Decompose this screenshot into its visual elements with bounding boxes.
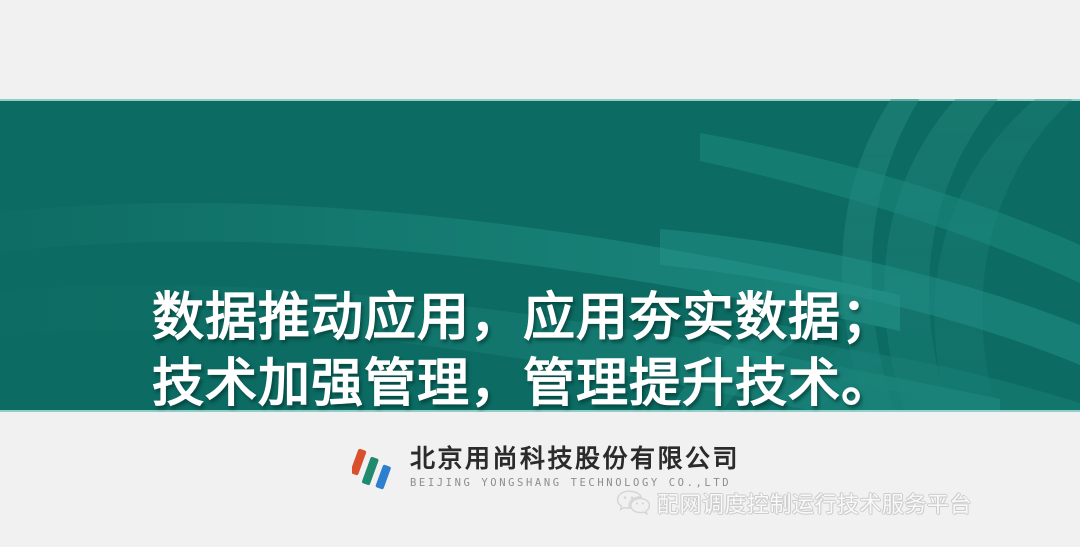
footer: 北京用尚科技股份有限公司 BEIJING YONGSHANG TECHNOLOG… (0, 412, 1080, 547)
wechat-icon (616, 488, 650, 518)
watermark-text: 配网调度控制运行技术服务平台 (657, 487, 972, 519)
logo-text-block: 北京用尚科技股份有限公司 BEIJING YONGSHANG TECHNOLOG… (410, 443, 740, 491)
headline-line-2: 技术加强管理，管理提升技术。 (152, 351, 952, 412)
three-slanted-bars-logo-icon (352, 443, 400, 495)
headline: 数据推动应用，应用夯实数据； 技术加强管理，管理提升技术。 (152, 285, 952, 412)
hero-banner: 数据推动应用，应用夯实数据； 技术加强管理，管理提升技术。 (0, 99, 1080, 412)
headline-line-1: 数据推动应用，应用夯实数据； (152, 285, 952, 351)
company-name-cn: 北京用尚科技股份有限公司 (410, 445, 740, 473)
wechat-watermark: 配网调度控制运行技术服务平台 (616, 487, 972, 519)
